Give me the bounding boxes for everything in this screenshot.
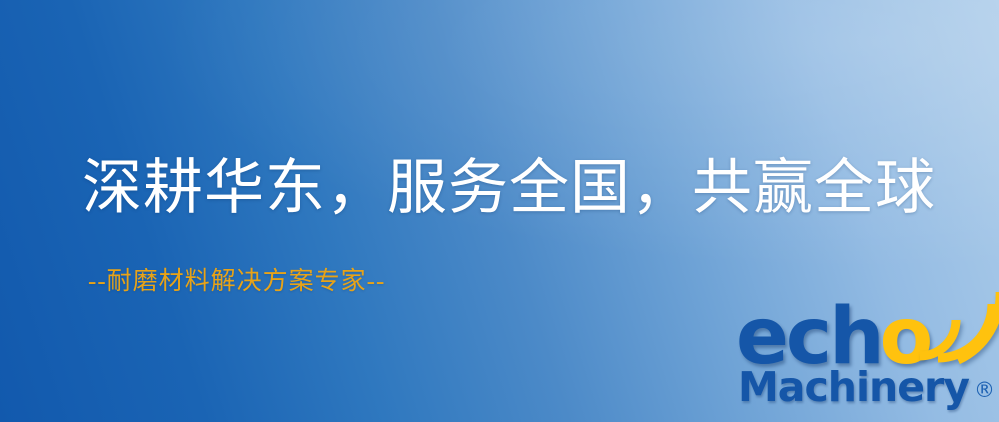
logo-text-machinery: Machinery [738, 364, 969, 410]
promotional-banner: 深耕华东，服务全国，共赢全球 --耐磨材料解决方案专家-- ech o Mach… [0, 0, 999, 422]
logo-tagline-row: Machinery ® [738, 364, 995, 410]
logo-wordmark: ech o [736, 298, 931, 372]
banner-headline: 深耕华东，服务全国，共赢全球 [82, 152, 936, 224]
banner-subtitle: --耐磨材料解决方案专家-- [88, 266, 385, 298]
company-logo[interactable]: ech o Machinery ® [736, 298, 994, 418]
registered-trademark-symbol: ® [974, 380, 995, 401]
sound-wave-arcs-icon [914, 292, 999, 364]
